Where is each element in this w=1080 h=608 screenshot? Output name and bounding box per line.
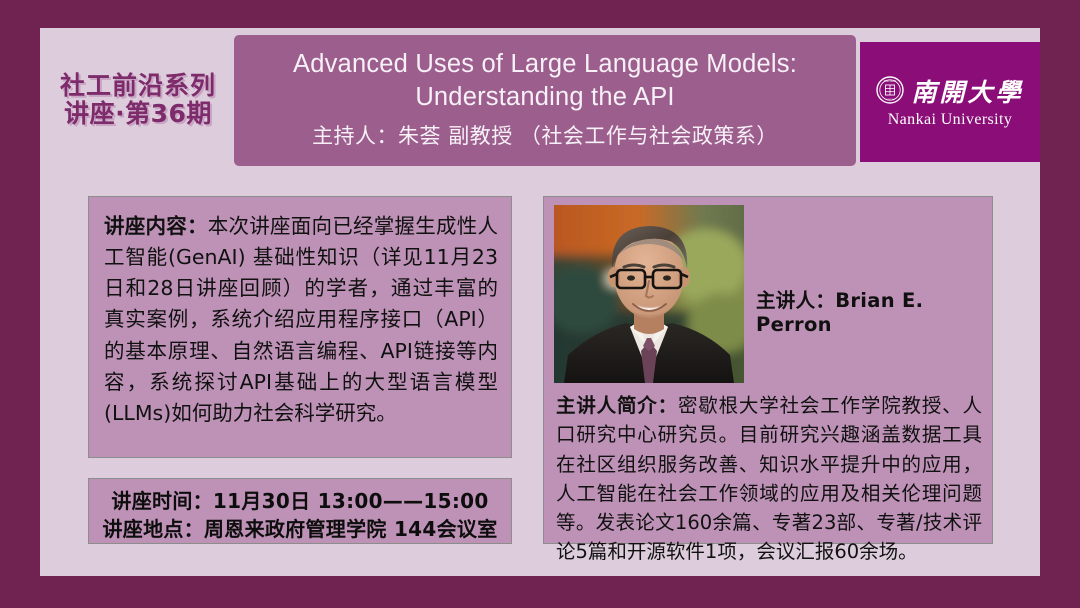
speaker-name-label: 主讲人： xyxy=(756,289,835,312)
nankai-seal-icon: NANKAI 1919 xyxy=(876,76,904,109)
speaker-bio-label: 主讲人简介： xyxy=(556,394,678,417)
title-line-2: Understanding the API xyxy=(234,81,856,114)
poster-root: 社工前沿系列 讲座·第36期 Advanced Uses of Large La… xyxy=(0,0,1080,608)
speaker-bio-body: 密歇根大学社会工作学院教授、人口研究中心研究员。目前研究兴趣涵盖数据工具在社区组… xyxy=(556,394,982,563)
lecture-time: 讲座时间：11月30日 13:00——15:00 xyxy=(95,487,505,515)
series-badge-line1: 社工前沿系列 xyxy=(42,72,234,100)
abstract-label: 讲座内容： xyxy=(104,214,208,238)
svg-text:1919: 1919 xyxy=(887,97,895,101)
university-logo-panel: NANKAI 1919 南開大學 Nankai University xyxy=(860,42,1040,162)
logo-row: NANKAI 1919 南開大學 xyxy=(876,76,1023,109)
svg-text:NANKAI: NANKAI xyxy=(884,79,898,83)
abstract-box: 讲座内容：本次讲座面向已经掌握生成性人工智能(GenAI) 基础性知识（详见11… xyxy=(88,196,512,458)
series-badge: 社工前沿系列 讲座·第36期 xyxy=(42,72,234,128)
speaker-bio: 主讲人简介：密歇根大学社会工作学院教授、人口研究中心研究员。目前研究兴趣涵盖数据… xyxy=(556,391,982,567)
abstract-text: 讲座内容：本次讲座面向已经掌握生成性人工智能(GenAI) 基础性知识（详见11… xyxy=(104,211,498,429)
logo-chinese-name: 南開大學 xyxy=(911,80,1023,105)
speaker-portrait xyxy=(554,205,744,383)
abstract-body: 本次讲座面向已经掌握生成性人工智能(GenAI) 基础性知识（详见11月23日和… xyxy=(104,214,498,425)
title-host: 主持人：朱荟 副教授 （社会工作与社会政策系） xyxy=(234,120,856,150)
logo-english-name: Nankai University xyxy=(888,111,1013,129)
title-bar: Advanced Uses of Large Language Models: … xyxy=(234,35,856,166)
speaker-name-row: 主讲人：Brian E. Perron xyxy=(756,284,988,336)
logistics-box: 讲座时间：11月30日 13:00——15:00 讲座地点：周恩来政府管理学院 … xyxy=(88,478,512,544)
lecture-place: 讲座地点：周恩来政府管理学院 144会议室 xyxy=(95,515,505,543)
speaker-box: 主讲人：Brian E. Perron 主讲人简介：密歇根大学社会工作学院教授、… xyxy=(543,196,993,544)
series-badge-line2: 讲座·第36期 xyxy=(42,100,234,128)
title-line-1: Advanced Uses of Large Language Models: xyxy=(234,48,856,81)
